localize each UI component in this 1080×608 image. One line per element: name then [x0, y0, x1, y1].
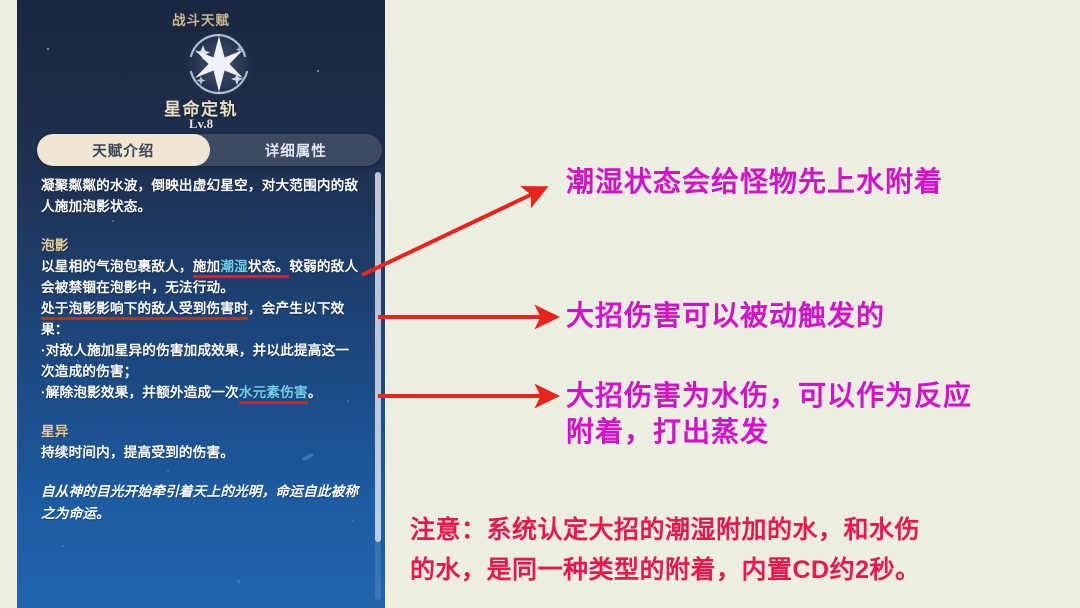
talent-level: Lv.8 [17, 116, 385, 132]
eight-point-star-icon [173, 28, 265, 100]
tab-detailed-attributes[interactable]: 详细属性 [210, 134, 383, 166]
desc-bullet-2: ·解除泡影效果，并额外造成一次水元素伤害。 [41, 382, 359, 403]
desc-b2-a: ·解除泡影效果，并额外造成一次 [41, 385, 239, 400]
desc-section2-title: 星异 [41, 421, 359, 442]
panel-scrollbar-thumb[interactable] [375, 172, 381, 542]
screenshot-stage: 战斗天赋 [0, 0, 1080, 608]
desc-section1-title: 泡影 [41, 235, 359, 256]
desc-bullet-1: ·对敌人施加星异的伤害加成效果，并以此提高这一次造成的伤害； [41, 340, 359, 382]
desc-section2-body: 持续时间内，提高受到的伤害。 [41, 442, 359, 463]
talent-detail-panel: 战斗天赋 [17, 0, 385, 608]
desc-s1-underline-2: 处于泡影影响下的敌人受到伤害时 [41, 301, 248, 320]
annotation-text-2: 大招伤害可以被动触发的 [566, 298, 885, 334]
desc-s1-underline-1: 施加潮湿状态。 [193, 259, 290, 278]
annotation-text-1: 潮湿状态会给怪物先上水附着 [566, 164, 943, 200]
desc-flavor-text: 自从神的目光开始牵引着天上的光明，命运自此被称之为命运。 [41, 481, 359, 525]
panel-header-title: 战斗天赋 [17, 9, 385, 29]
talent-tabbar: 天赋介绍 详细属性 [37, 134, 382, 166]
desc-s1-l1-ul-a: 施加 [193, 259, 221, 274]
annotation-text-3: 大招伤害为水伤，可以作为反应 附着，打出蒸发 [566, 378, 972, 450]
desc-section1-line1: 以星相的气泡包裹敌人，施加潮湿状态。较弱的敌人会被禁锢在泡影中，无法行动。 [41, 256, 359, 298]
tab-talent-intro[interactable]: 天赋介绍 [37, 134, 210, 166]
desc-s1-l1-a: 以星相的气泡包裹敌人， [41, 259, 193, 274]
desc-keyword-hydro-dmg: 水元素伤害 [239, 385, 308, 404]
arrow-1 [362, 188, 545, 275]
annotation-note: 注意：系统认定大招的潮湿附加的水，和水伤 的水，是同一种类型的附着，内置CD约2… [410, 510, 921, 590]
desc-intro: 凝聚粼粼的水波，倒映出虚幻星空，对大范围内的敌人施加泡影状态。 [41, 175, 359, 217]
desc-b2-end: 。 [308, 385, 322, 400]
talent-description: 凝聚粼粼的水波，倒映出虚幻星空，对大范围内的敌人施加泡影状态。 泡影 以星相的气… [41, 175, 359, 525]
desc-s1-l1-ul-b: 状态。 [248, 259, 289, 274]
desc-keyword-wet: 潮湿 [220, 259, 248, 274]
desc-section1-line2: 处于泡影影响下的敌人受到伤害时，会产生以下效果： [41, 298, 359, 340]
panel-scrollbar[interactable] [375, 172, 381, 600]
